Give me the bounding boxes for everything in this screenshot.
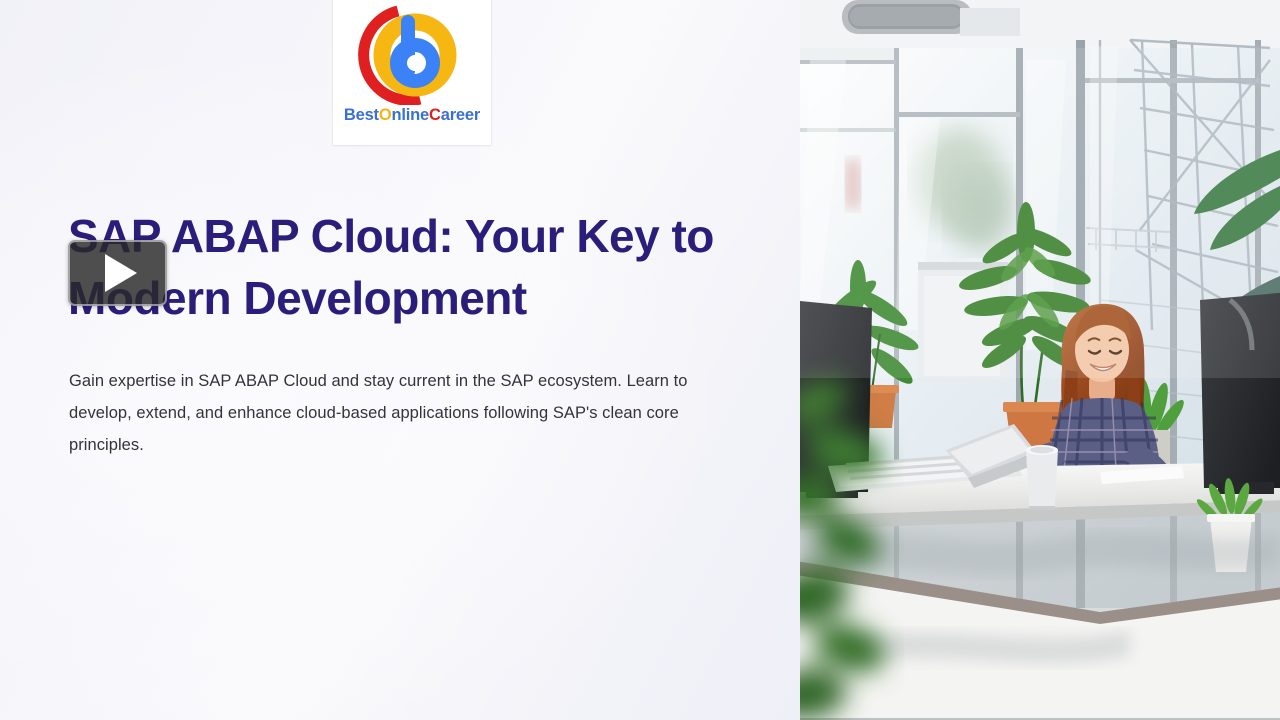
brand-wordmark: BestOnlineCareer	[344, 107, 480, 124]
slide-body-text: Gain expertise in SAP ABAP Cloud and sta…	[69, 365, 749, 461]
slide-headline: SAP ABAP Cloud: Your Key to Modern Devel…	[68, 205, 758, 329]
video-play-button[interactable]	[68, 240, 167, 306]
wordmark-part-c: C	[429, 106, 441, 124]
brand-logo-card: BestOnlineCareer	[333, 0, 491, 145]
wordmark-part-nline: nline	[392, 106, 430, 124]
wordmark-part-areer: areer	[441, 106, 480, 124]
wordmark-part-best: Best	[344, 106, 379, 124]
play-triangle-icon	[105, 254, 137, 292]
bestonlinecareer-logo-icon	[358, 5, 466, 105]
office-photo	[800, 0, 1280, 720]
slide-root: BestOnlineCareer SAP ABAP Cloud: Your Ke…	[0, 0, 1280, 720]
wordmark-part-o: O	[379, 106, 392, 124]
